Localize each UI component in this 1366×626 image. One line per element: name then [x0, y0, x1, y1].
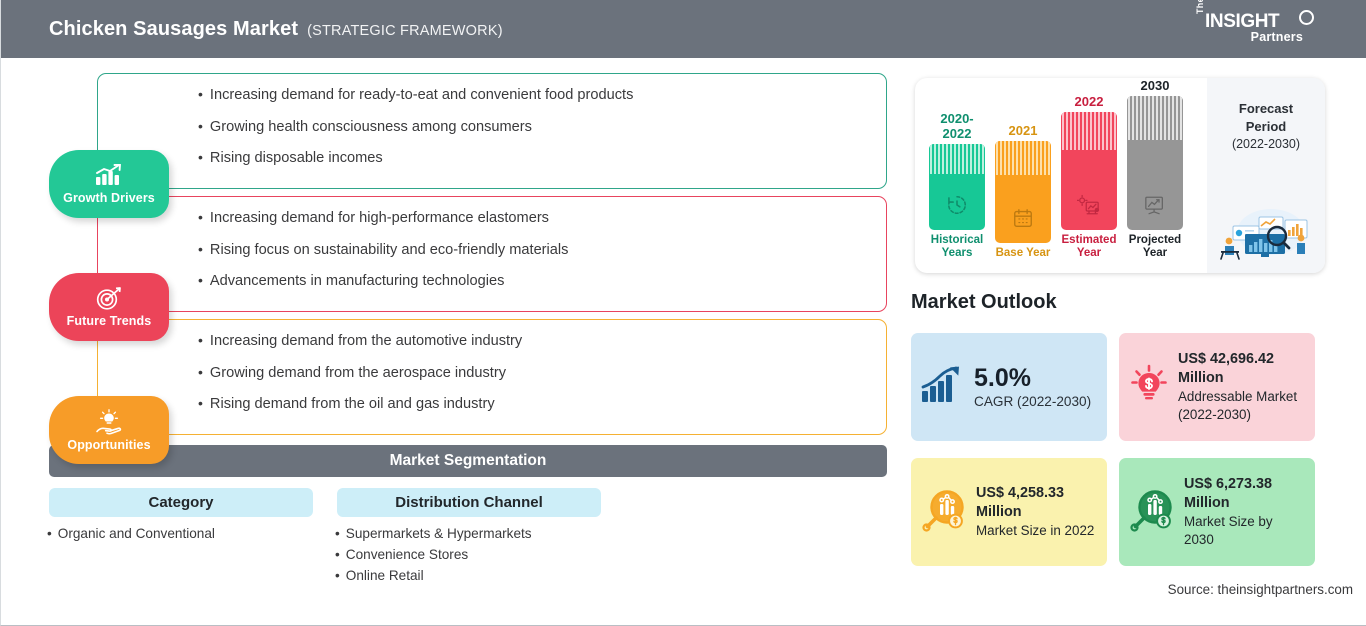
- timeline-bar-historical: 2020-2022 Historical Y: [929, 111, 985, 260]
- page-header: Chicken Sausages Market(STRATEGIC FRAMEW…: [1, 0, 1366, 58]
- bullet-dot-icon: •: [198, 118, 203, 135]
- list-item: •Growing health consciousness among cons…: [198, 118, 872, 136]
- timeline-caption: Base Year: [995, 247, 1051, 260]
- timeline-bar-projected: 2030: [1127, 78, 1183, 260]
- outlook-card-addressable-market: US$ 42,696.42 Million Addressable Market…: [1119, 333, 1315, 441]
- list-item: •Increasing demand for ready-to-eat and …: [198, 86, 872, 104]
- bullet-dot-icon: •: [198, 241, 203, 258]
- bullet-dot-icon: •: [198, 395, 203, 412]
- market-segmentation-title: Market Segmentation: [49, 445, 887, 477]
- list-item: •Rising demand from the oil and gas indu…: [198, 395, 872, 413]
- bullet-dot-icon: •: [198, 332, 203, 349]
- list-item: •Growing demand from the aerospace indus…: [198, 364, 872, 382]
- market-size-2022-unit: Million: [976, 503, 1094, 522]
- market-size-2022-label: Market Size in 2022: [976, 523, 1094, 538]
- page-title-text: Chicken Sausages Market: [49, 18, 298, 40]
- list-item: •Convenience Stores: [335, 545, 615, 566]
- bar-rect: [1061, 112, 1117, 230]
- bullet-text: Rising focus on sustainability and eco-f…: [210, 241, 569, 259]
- bullet-dot-icon: •: [198, 209, 203, 226]
- bullet-list-growth: •Increasing demand for ready-to-eat and …: [198, 86, 872, 181]
- logo-ring-icon: [1299, 10, 1314, 25]
- addressable-value: US$ 42,696.42: [1178, 350, 1306, 369]
- badge-opportunities[interactable]: Opportunities: [49, 396, 169, 464]
- list-item-label: Online Retail: [346, 566, 424, 587]
- addressable-unit: Million: [1178, 369, 1306, 388]
- bar-stripe-pattern: [1127, 96, 1183, 140]
- page-subtitle: (STRATEGIC FRAMEWORK): [307, 23, 503, 39]
- market-outlook-title: Market Outlook: [911, 291, 1057, 314]
- timeline-year-label: 2022: [1061, 94, 1117, 109]
- bullet-dot-icon: •: [198, 272, 203, 289]
- bar-rect: [929, 144, 985, 230]
- magnifier-chart-dollar-icon: [920, 488, 968, 537]
- infographic-page: Chicken Sausages Market(STRATEGIC FRAMEW…: [0, 0, 1366, 626]
- addressable-label: Addressable Market (2022-2030): [1178, 389, 1297, 422]
- bar-rect: [1127, 96, 1183, 230]
- badge-future-trends[interactable]: Future Trends: [49, 273, 169, 341]
- bar-rect: [995, 141, 1051, 243]
- badge-label: Future Trends: [67, 314, 152, 328]
- market-size-2022-value: US$ 4,258.33: [976, 484, 1094, 503]
- logo-partners: Partners: [1251, 30, 1303, 44]
- timeline-bar-estimated: 2022: [1061, 94, 1117, 260]
- target-dart-icon: [95, 287, 123, 311]
- segmentation-list-category: •Organic and Conventional: [47, 524, 327, 545]
- segmentation-list-distribution-channel: •Supermarkets & Hypermarkets •Convenienc…: [335, 524, 615, 587]
- hand-lightbulb-icon: [94, 409, 124, 435]
- bullet-text: Increasing demand from the automotive in…: [210, 332, 522, 350]
- bullet-dot-icon: •: [198, 86, 203, 103]
- bullet-text: Rising disposable incomes: [210, 149, 383, 167]
- outlook-card-market-size-2022: US$ 4,258.33 Million Market Size in 2022: [911, 458, 1107, 566]
- bullet-list-trends: •Increasing demand for high-performance …: [198, 209, 872, 304]
- bullet-text: Increasing demand for ready-to-eat and c…: [210, 86, 633, 104]
- magnifier-chart-dollar-icon: [1128, 488, 1176, 537]
- timeline-caption: Projected Year: [1127, 234, 1183, 260]
- bullet-text: Advancements in manufacturing technologi…: [210, 272, 504, 290]
- list-item: •Advancements in manufacturing technolog…: [198, 272, 872, 290]
- estimate-chart-icon: [1077, 194, 1101, 221]
- bar-stripe-pattern: [995, 141, 1051, 175]
- calendar-icon: [1012, 207, 1034, 234]
- growth-bar-chart-icon: [920, 365, 966, 410]
- timeline-year-label: 2030: [1127, 78, 1183, 93]
- bullet-text: Increasing demand for high-performance e…: [210, 209, 549, 227]
- panel-future-trends: •Increasing demand for high-performance …: [97, 196, 887, 312]
- segmentation-heading-distribution-channel: Distribution Channel: [337, 488, 601, 517]
- bar-stripe-pattern: [929, 144, 985, 174]
- list-item: •Online Retail: [335, 566, 615, 587]
- bullet-dot-icon: •: [198, 364, 203, 381]
- bar-stripe-pattern: [1061, 112, 1117, 150]
- list-item-label: Supermarkets & Hypermarkets: [346, 524, 532, 545]
- clock-history-icon: [946, 194, 968, 221]
- right-column: 2020-2022 Historical Y: [901, 58, 1366, 626]
- market-size-2022-text: US$ 4,258.33 Million Market Size in 2022: [976, 484, 1094, 540]
- timeline-bars: 2020-2022 Historical Y: [915, 78, 1205, 273]
- data-analysis-illustration: [1215, 198, 1315, 265]
- bullet-dot-icon: •: [198, 149, 203, 166]
- projection-screen-icon: [1143, 194, 1167, 221]
- market-size-2030-value: US$ 6,273.38: [1184, 475, 1306, 494]
- badge-label: Growth Drivers: [63, 191, 155, 205]
- lightbulb-dollar-icon: [1128, 363, 1170, 412]
- cagr-value: 5.0%: [974, 365, 1091, 391]
- timeline-caption: Historical Years: [929, 234, 985, 260]
- cagr-label: CAGR (2022-2030): [974, 394, 1091, 409]
- outlook-card-market-size-2030: US$ 6,273.38 Million Market Size by 2030: [1119, 458, 1315, 566]
- timeline-bar-base: 2021: [995, 123, 1051, 260]
- left-column: •Increasing demand for ready-to-eat and …: [1, 58, 901, 626]
- market-size-2030-label: Market Size by 2030: [1184, 514, 1273, 547]
- panel-growth-drivers: •Increasing demand for ready-to-eat and …: [97, 73, 887, 189]
- forecast-years: (2022-2030): [1207, 137, 1325, 151]
- timeline-year-label: 2021: [995, 123, 1051, 138]
- market-size-2030-unit: Million: [1184, 494, 1306, 513]
- bullet-dot-icon: •: [335, 545, 340, 566]
- timeline-caption: Estimated Year: [1061, 234, 1117, 260]
- forecast-period-panel: Forecast Period (2022-2030): [1207, 78, 1325, 273]
- bullet-list-opportunities: •Increasing demand from the automotive i…: [198, 332, 872, 427]
- bullet-text: Growing health consciousness among consu…: [210, 118, 532, 136]
- list-item: •Rising focus on sustainability and eco-…: [198, 241, 872, 259]
- addressable-text: US$ 42,696.42 Million Addressable Market…: [1178, 350, 1306, 423]
- list-item: •Rising disposable incomes: [198, 149, 872, 167]
- logo-the: The: [1195, 0, 1205, 14]
- bullet-text: Rising demand from the oil and gas indus…: [210, 395, 495, 413]
- market-size-2030-text: US$ 6,273.38 Million Market Size by 2030: [1184, 475, 1306, 548]
- list-item: •Increasing demand from the automotive i…: [198, 332, 872, 350]
- outlook-card-cagr: 5.0% CAGR (2022-2030): [911, 333, 1107, 441]
- bar-chart-arrow-icon: [94, 164, 124, 188]
- list-item: •Organic and Conventional: [47, 524, 327, 545]
- segmentation-heading-category: Category: [49, 488, 313, 517]
- bullet-dot-icon: •: [335, 524, 340, 545]
- market-timeline-chart: 2020-2022 Historical Y: [915, 78, 1325, 273]
- badge-label: Opportunities: [67, 438, 150, 452]
- badge-growth-drivers[interactable]: Growth Drivers: [49, 150, 169, 218]
- bullet-dot-icon: •: [47, 524, 52, 545]
- panel-opportunities: •Increasing demand from the automotive i…: [97, 319, 887, 435]
- source-attribution: Source: theinsightpartners.com: [1168, 582, 1353, 597]
- list-item-label: Organic and Conventional: [58, 524, 215, 545]
- list-item: •Increasing demand for high-performance …: [198, 209, 872, 227]
- bullet-text: Growing demand from the aerospace indust…: [210, 364, 506, 382]
- list-item-label: Convenience Stores: [346, 545, 468, 566]
- bullet-dot-icon: •: [335, 566, 340, 587]
- insight-partners-logo: The INSIGHT Partners: [1195, 10, 1315, 50]
- list-item: •Supermarkets & Hypermarkets: [335, 524, 615, 545]
- forecast-line1: Forecast: [1207, 100, 1325, 118]
- timeline-year-label: 2020-2022: [929, 111, 985, 141]
- page-title: Chicken Sausages Market(STRATEGIC FRAMEW…: [49, 18, 503, 41]
- forecast-line2: Period: [1207, 118, 1325, 136]
- cagr-text: 5.0% CAGR (2022-2030): [974, 365, 1091, 408]
